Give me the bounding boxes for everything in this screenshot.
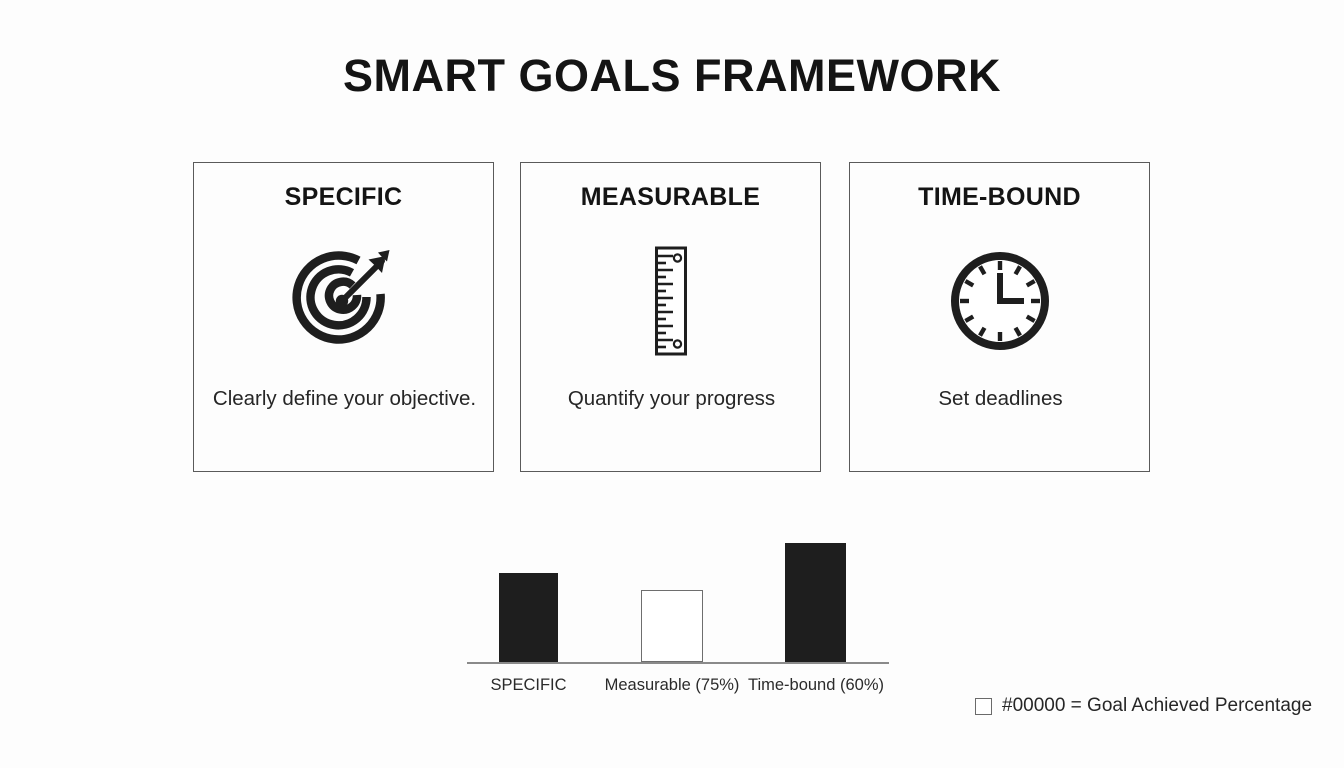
page-title: SMART GOALS FRAMEWORK: [0, 50, 1344, 102]
bar-measurable[interactable]: [641, 590, 703, 662]
bar-label-specific: SPECIFIC: [478, 676, 579, 695]
card-description: Quantify your progress: [535, 385, 808, 412]
bar-label-time-bound: Time-bound (60%): [746, 676, 886, 695]
card-description: Clearly define your objective.: [208, 385, 481, 412]
card-description: Set deadlines: [864, 385, 1137, 412]
clock-icon: [850, 241, 1149, 361]
goal-achievement-bar-chart: SPECIFIC Measurable (75%) Time-bound (60…: [455, 528, 895, 708]
bar-label-measurable: Measurable (75%): [602, 676, 742, 695]
slide-canvas: SMART GOALS FRAMEWORK SPECIFIC Clearly d…: [0, 0, 1344, 768]
target-bullseye-arrow-icon: [194, 241, 493, 361]
card-title: SPECIFIC: [194, 183, 493, 212]
chart-legend: #00000 = Goal Achieved Percentage: [975, 695, 1312, 717]
chart-baseline-axis: [467, 662, 889, 664]
card-title: MEASURABLE: [521, 183, 820, 212]
card-time-bound[interactable]: TIME-BOUND: [849, 162, 1150, 472]
card-title: TIME-BOUND: [850, 183, 1149, 212]
card-specific[interactable]: SPECIFIC Clearly define your objective.: [193, 162, 494, 472]
legend-label: #00000 = Goal Achieved Percentage: [1002, 695, 1312, 717]
ruler-icon: [521, 241, 820, 361]
card-measurable[interactable]: MEASURABLE: [520, 162, 821, 472]
legend-swatch-icon: [975, 698, 992, 715]
bar-time-bound[interactable]: [785, 543, 846, 662]
bar-specific[interactable]: [499, 573, 558, 662]
